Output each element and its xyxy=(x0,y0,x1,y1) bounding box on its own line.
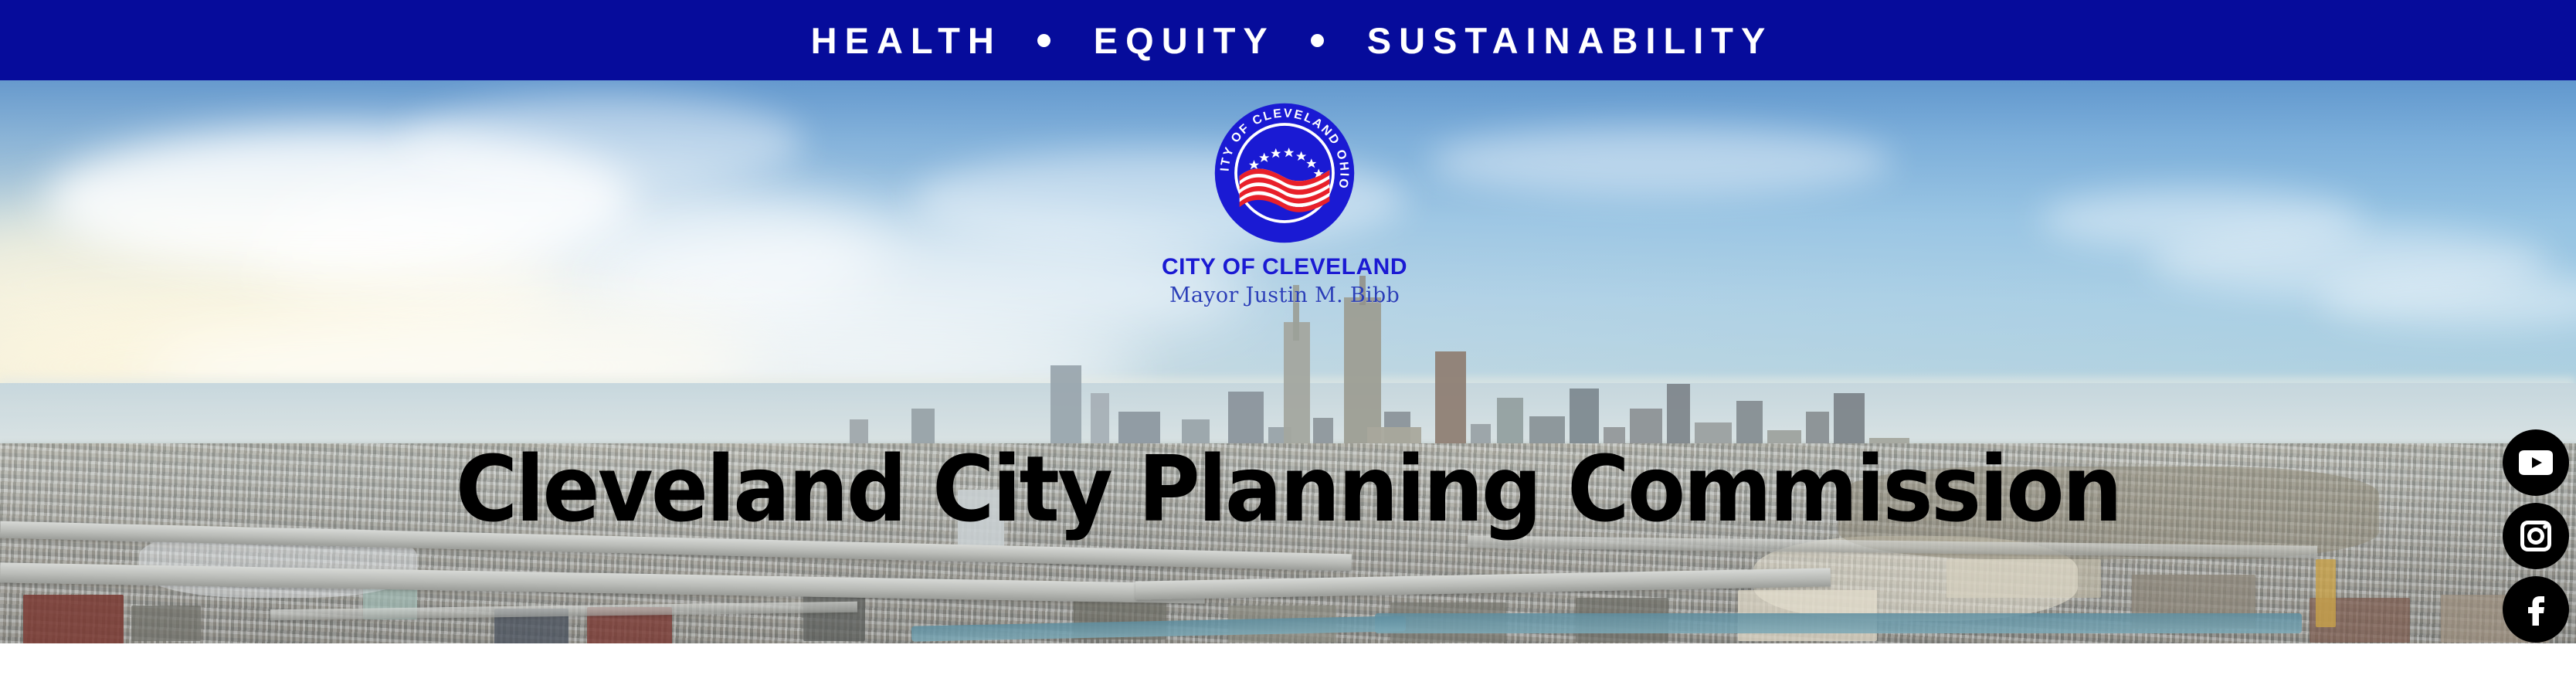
tagline-inner: HEALTH EQUITY SUSTAINABILITY xyxy=(803,22,1773,59)
tagline-separator-dot-2 xyxy=(1311,34,1324,47)
instagram-icon[interactable] xyxy=(2503,503,2569,569)
facebook-icon[interactable] xyxy=(2503,576,2569,643)
social-links-rail xyxy=(2500,429,2571,643)
tagline-banner: HEALTH EQUITY SUSTAINABILITY xyxy=(0,0,2576,80)
youtube-icon[interactable] xyxy=(2503,429,2569,496)
hero-photo: CITY OF CLEVELAND OHIO CITY OF CLEVELAND… xyxy=(0,80,2576,643)
building-block xyxy=(23,595,124,643)
building-block xyxy=(131,606,201,641)
tagline-word-health: HEALTH xyxy=(803,22,1002,59)
bottom-white-strip xyxy=(0,643,2576,682)
cuyahoga-river xyxy=(1375,613,2302,633)
church-spire xyxy=(2316,559,2336,627)
city-seal-block: CITY OF CLEVELAND OHIO CITY OF CLEVELAND… xyxy=(1137,100,1432,307)
page-title: Cleveland City Planning Commission xyxy=(90,443,2486,534)
tagline-separator-dot-1 xyxy=(1037,34,1050,47)
page-root: HEALTH EQUITY SUSTAINABILITY xyxy=(0,0,2576,682)
city-of-cleveland-seal-icon: CITY OF CLEVELAND OHIO xyxy=(1212,100,1357,246)
seal-mayor-label: Mayor Justin M. Bibb xyxy=(1137,284,1432,307)
tagline-word-sustainability: SUSTAINABILITY xyxy=(1359,22,1773,59)
tagline-word-equity: EQUITY xyxy=(1086,22,1275,59)
seal-city-label: CITY OF CLEVELAND xyxy=(1137,255,1432,280)
